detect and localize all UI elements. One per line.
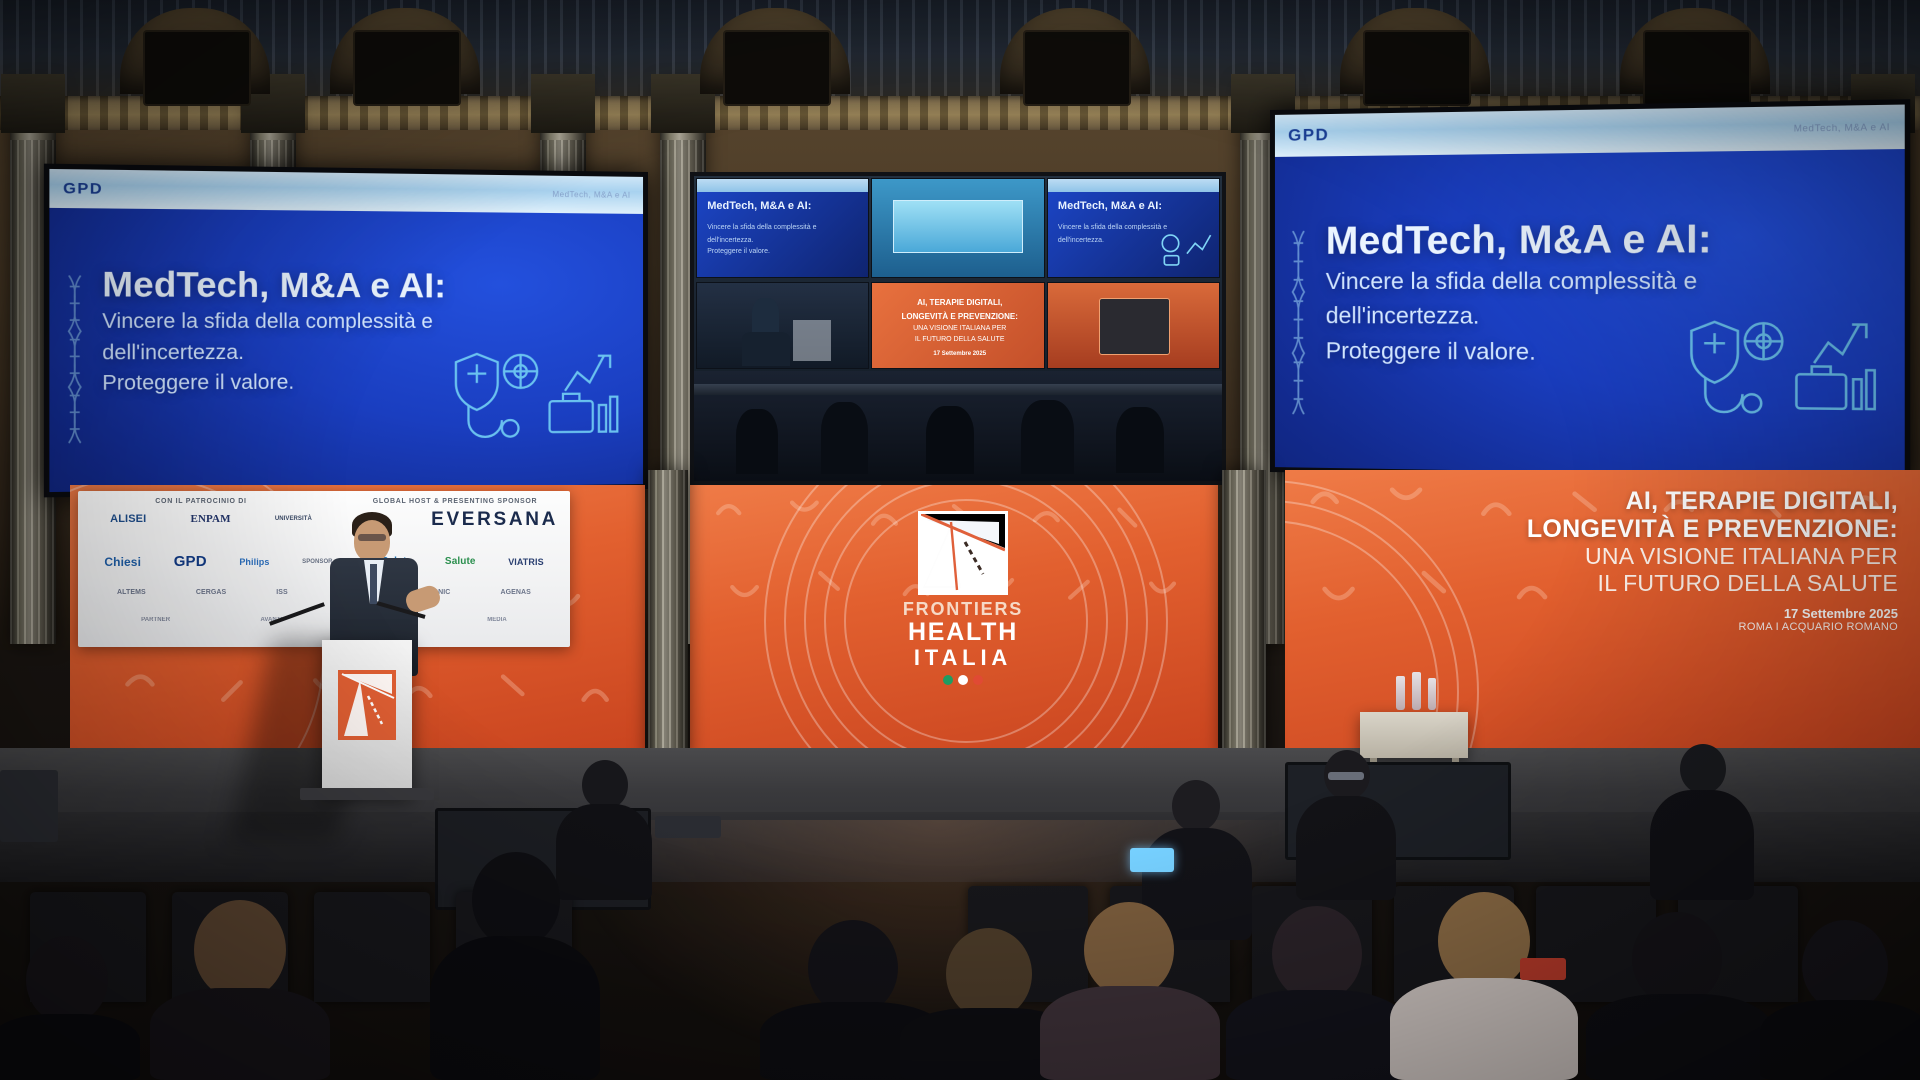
speaker-glasses bbox=[358, 534, 386, 541]
event-location: ROMA I ACQUARIO ROMANO bbox=[1358, 621, 1898, 633]
sponsor-logo-viatris: VIATRIS bbox=[508, 557, 543, 567]
person-head bbox=[582, 760, 628, 810]
sponsor-logo-enpam: ENPAM bbox=[191, 513, 231, 525]
right-presentation-screen: GPD MedTech, M&A e AI MedTech, M&A e AI:… bbox=[1270, 99, 1910, 483]
event-title-line3: UNA VISIONE ITALIANA PER bbox=[1358, 543, 1898, 570]
water-bottle bbox=[1396, 676, 1405, 710]
person-shoulders bbox=[1390, 978, 1578, 1080]
person-glasses bbox=[1328, 772, 1364, 780]
speaker-tie bbox=[370, 564, 377, 604]
sponsor-logo-small: MEDIA bbox=[487, 617, 507, 623]
audience-person-foreground bbox=[1586, 912, 1772, 1080]
mini-banner-line4: IL FUTURO DELLA SALUTE bbox=[886, 336, 1033, 344]
sponsor-logo-philips: Philips bbox=[239, 557, 269, 567]
mini-slide-bar bbox=[1048, 179, 1219, 192]
arch-window bbox=[143, 30, 251, 106]
arch-window bbox=[1023, 30, 1131, 106]
mini-banner-line1: AI, TERAPIE DIGITALI, bbox=[886, 298, 1033, 308]
event-title-line2: LONGEVITÀ E PREVENZIONE: bbox=[1358, 516, 1898, 544]
slide-topbar-right-label: MedTech, M&A e AI bbox=[552, 190, 630, 200]
conference-stage-photo: GPD MedTech, M&A e AI MedTech, M&A e AI:… bbox=[0, 0, 1920, 1080]
stage-column bbox=[648, 470, 688, 760]
slide-illustration bbox=[1657, 265, 1892, 470]
audience-person-foreground bbox=[1390, 892, 1578, 1080]
briefcase-icon bbox=[550, 401, 593, 432]
seat-accent bbox=[1520, 958, 1566, 980]
audience-person-foreground bbox=[1760, 920, 1920, 1080]
video-wall-mid-row: AI, TERAPIE DIGITALI, LONGEVITÀ E PREVEN… bbox=[694, 280, 1222, 372]
person-head bbox=[1272, 906, 1362, 1002]
logo-text-health: HEALTH bbox=[868, 618, 1058, 647]
video-wall-audience-feed bbox=[694, 371, 1222, 481]
person-head bbox=[26, 936, 108, 1024]
dna-helix-icon bbox=[1289, 231, 1308, 415]
mini-banner: AI, TERAPIE DIGITALI, LONGEVITÀ E PREVEN… bbox=[872, 283, 1043, 369]
audience-area bbox=[0, 760, 1920, 1080]
person-shoulders bbox=[0, 1014, 140, 1080]
water-bottle bbox=[1428, 678, 1436, 710]
sponsor-logo-salute: Salute bbox=[445, 556, 476, 567]
event-title-line1: AI, TERAPIE DIGITALI, bbox=[1358, 488, 1898, 516]
water-bottle bbox=[1412, 672, 1421, 710]
video-wall-cell bbox=[1047, 282, 1220, 370]
arch-window bbox=[1363, 30, 1471, 106]
person-head bbox=[1172, 780, 1220, 832]
person-shoulders bbox=[150, 988, 330, 1080]
video-wall-cell bbox=[871, 178, 1044, 278]
slide-title: MedTech, M&A e AI: bbox=[102, 266, 620, 305]
mini-banner-line3: UNA VISIONE ITALIANA PER bbox=[886, 325, 1033, 333]
stage-column bbox=[1222, 470, 1266, 760]
person-shoulders bbox=[1760, 1000, 1920, 1080]
chart-growth-icon bbox=[1814, 325, 1859, 364]
logo-text-italia: ITALIA bbox=[868, 645, 1058, 671]
arch-window bbox=[353, 30, 461, 106]
event-title-block: AI, TERAPIE DIGITALI, LONGEVITÀ E PREVEN… bbox=[1358, 488, 1898, 633]
dna-helix-icon bbox=[64, 276, 84, 444]
sponsor-logo-small: AGENAS bbox=[501, 589, 531, 596]
video-wall-cell: MedTech, M&A e AI: Vincere la sfida dell… bbox=[1047, 178, 1220, 278]
mini-slide: MedTech, M&A e AI: Vincere la sfida dell… bbox=[697, 179, 868, 277]
person-shoulders bbox=[1296, 796, 1396, 900]
frontiers-mark-icon bbox=[921, 514, 1005, 592]
right-slide: GPD MedTech, M&A e AI MedTech, M&A e AI:… bbox=[1275, 105, 1905, 478]
frontiers-health-logo: FRONTIERS HEALTH ITALIA bbox=[868, 511, 1058, 685]
mini-slide-title-2: MedTech, M&A e AI: bbox=[1058, 200, 1168, 213]
gpd-logo: GPD bbox=[63, 180, 103, 198]
slide-topbar-right-label: MedTech, M&A e AI bbox=[1794, 122, 1890, 134]
mini-slide-sub2: dell'incertezza. bbox=[707, 236, 820, 245]
audience-person-foreground bbox=[0, 936, 140, 1080]
logo-text-frontiers: FRONTIERS bbox=[868, 599, 1058, 620]
column-fluting bbox=[648, 470, 688, 760]
smartphone-screen bbox=[1130, 848, 1174, 872]
logo-dot-white bbox=[958, 675, 968, 685]
video-wall-top-row: MedTech, M&A e AI: Vincere la sfida dell… bbox=[694, 176, 1222, 280]
person-head bbox=[1802, 920, 1888, 1012]
slide-illustration bbox=[425, 309, 632, 481]
event-date: 17 Settembre 2025 bbox=[1358, 606, 1898, 621]
gpd-logo: GPD bbox=[1288, 125, 1329, 146]
mini-slide-title: MedTech, M&A e AI: bbox=[707, 200, 817, 213]
left-slide: GPD MedTech, M&A e AI MedTech, M&A e AI:… bbox=[49, 169, 643, 492]
audience-person-foreground bbox=[1226, 906, 1408, 1080]
sponsor-logo-small: CERGAS bbox=[196, 589, 226, 596]
mini-illustration bbox=[1152, 224, 1214, 271]
chart-growth-icon bbox=[565, 356, 604, 391]
person-head bbox=[946, 928, 1032, 1020]
sponsor-logo-gpd: GPD bbox=[174, 553, 207, 570]
column-fluting bbox=[1222, 470, 1266, 760]
person-shoulders bbox=[1226, 990, 1408, 1080]
arch-window bbox=[1643, 30, 1751, 106]
frontiers-logo-mark bbox=[918, 511, 1008, 595]
center-video-wall: MedTech, M&A e AI: Vincere la sfida dell… bbox=[690, 172, 1226, 485]
logo-dot-red bbox=[973, 675, 983, 685]
video-wall-cell: AI, TERAPIE DIGITALI, LONGEVITÀ E PREVEN… bbox=[871, 282, 1044, 370]
logo-dot-green bbox=[943, 675, 953, 685]
stethoscope-icon bbox=[469, 406, 502, 437]
person-shoulders bbox=[1650, 790, 1754, 900]
sponsor-logo-universita: UNIVERSITÀ bbox=[275, 516, 312, 522]
sponsor-logo-small: ISS bbox=[276, 589, 288, 596]
mini-banner-date: 17 Settembre 2025 bbox=[886, 351, 1033, 358]
sponsor-logo-small: PARTNER bbox=[141, 617, 170, 623]
audience-person bbox=[1296, 750, 1396, 900]
stethoscope-icon bbox=[1705, 378, 1742, 412]
mini-slide-sub3: Proteggere il valore. bbox=[707, 247, 820, 256]
sponsor-caption-left: CON IL PATROCINIO DI bbox=[86, 498, 316, 505]
mini-slide: MedTech, M&A e AI: Vincere la sfida dell… bbox=[1048, 179, 1219, 277]
video-wall-cell: MedTech, M&A e AI: Vincere la sfida dell… bbox=[696, 178, 869, 278]
sponsor-logo-alisei: ALISEI bbox=[110, 513, 146, 525]
arch-window bbox=[723, 30, 831, 106]
person-head bbox=[1438, 892, 1530, 990]
sponsor-logo-small: ALTEMS bbox=[117, 589, 146, 596]
podium-logo-icon bbox=[338, 670, 396, 740]
slide-topbar: GPD MedTech, M&A e AI bbox=[49, 169, 643, 214]
column-capital bbox=[531, 74, 595, 133]
audience-person-foreground bbox=[430, 852, 600, 1080]
slide-title: MedTech, M&A e AI: bbox=[1326, 217, 1878, 262]
sponsor-caption-right: GLOBAL HOST & PRESENTING SPONSOR bbox=[348, 498, 562, 505]
event-title-line4: IL FUTURO DELLA SALUTE bbox=[1358, 570, 1898, 597]
mini-slide-sub1: Vincere la sfida della complessità e bbox=[707, 223, 820, 232]
left-presentation-screen: GPD MedTech, M&A e AI MedTech, M&A e AI:… bbox=[44, 164, 648, 498]
column-capital bbox=[1, 74, 65, 133]
person-head bbox=[1680, 744, 1726, 794]
briefcase-icon bbox=[1796, 375, 1846, 410]
mini-banner-line2: LONGEVITÀ E PREVENZIONE: bbox=[886, 312, 1033, 322]
audience-person bbox=[1650, 744, 1754, 900]
person-shoulders bbox=[430, 936, 600, 1080]
person-head bbox=[1084, 902, 1174, 998]
slide-topbar: GPD MedTech, M&A e AI bbox=[1275, 105, 1905, 158]
video-wall-feed: MedTech, M&A e AI: Vincere la sfida dell… bbox=[694, 176, 1222, 481]
logo-dots bbox=[868, 675, 1058, 685]
mini-slide-bar bbox=[697, 179, 868, 192]
speaker-head bbox=[354, 520, 390, 562]
podium-logo bbox=[338, 670, 396, 740]
audience-person-foreground bbox=[150, 900, 330, 1080]
audience-chair bbox=[314, 892, 430, 1002]
person-shoulders bbox=[1040, 986, 1220, 1080]
sponsor-logo-chiesi: Chiesi bbox=[104, 555, 141, 569]
audience-person-foreground bbox=[1040, 902, 1220, 1080]
person-head bbox=[472, 852, 560, 948]
person-shoulders bbox=[1586, 994, 1772, 1080]
person-head bbox=[1632, 912, 1722, 1006]
video-wall-cell bbox=[696, 282, 869, 370]
backdrop-center-panel: FRONTIERS HEALTH ITALIA bbox=[690, 485, 1218, 755]
person-head bbox=[194, 900, 286, 1000]
